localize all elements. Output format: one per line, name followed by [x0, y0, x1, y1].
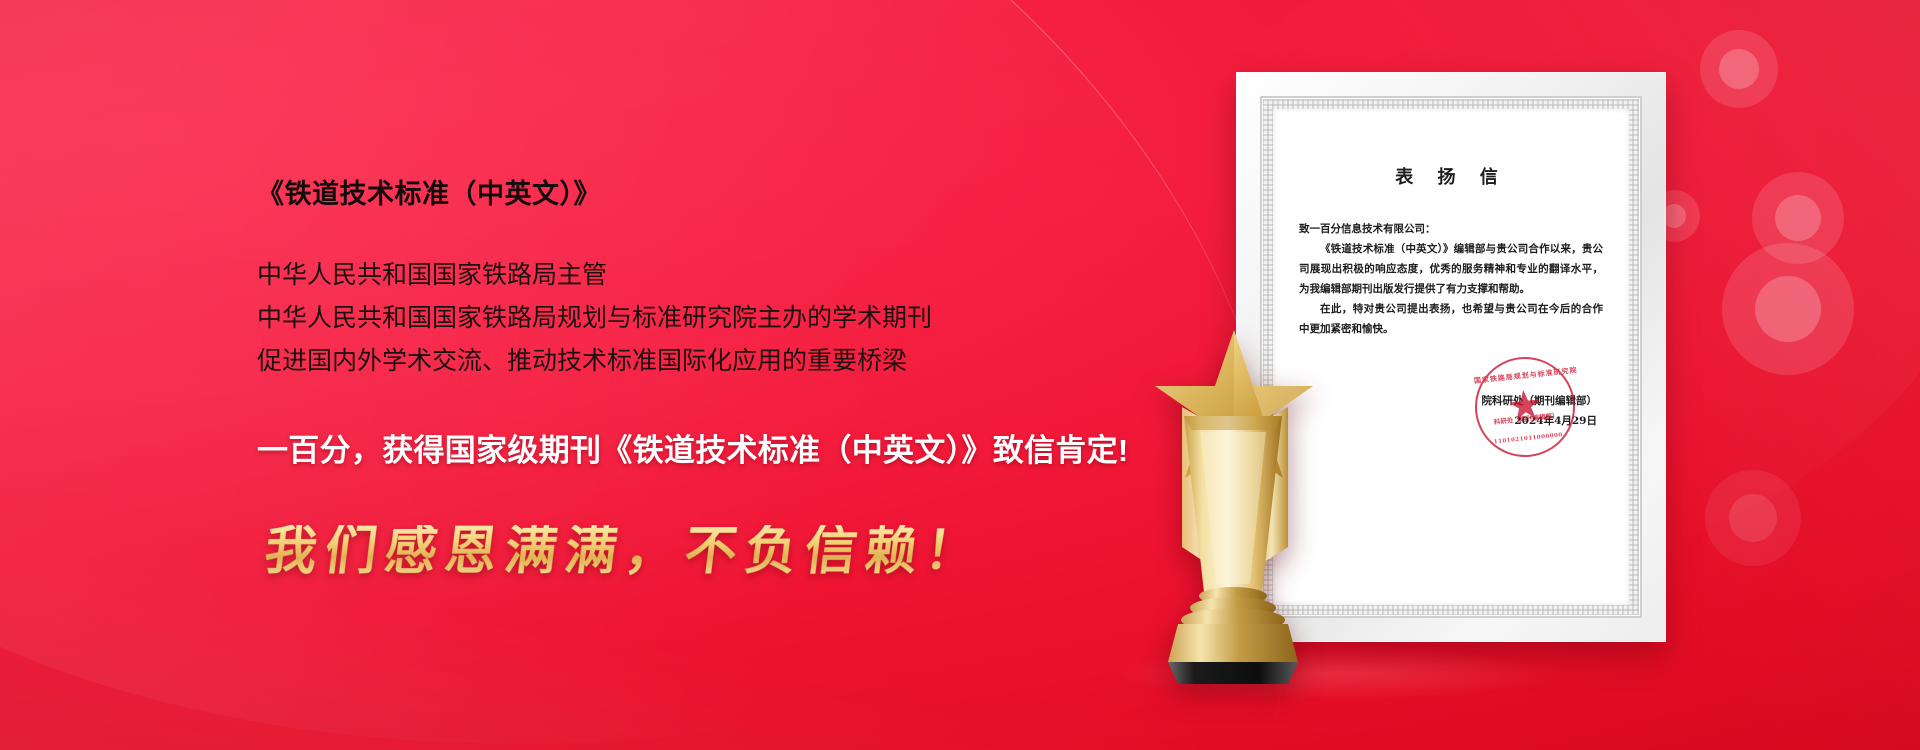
trophy-graphic: [1138, 312, 1328, 684]
journal-title: 《铁道技术标准（中英文）》: [257, 178, 1157, 210]
trophy-base: [1168, 662, 1298, 684]
trophy-svg: [1138, 312, 1328, 684]
certificate-paragraph-2: 在此，特对贵公司提出表扬，也希望与贵公司在今后的合作中更加紧密和愉快。: [1299, 299, 1603, 339]
subtitle-line-1: 中华人民共和国国家铁路局主管: [257, 254, 1157, 297]
headline: 一百分，获得国家级期刊《铁道技术标准（中英文）》致信肯定!: [257, 431, 1157, 471]
certificate-salutation: 致一百分信息技术有限公司：: [1299, 219, 1603, 239]
certificate-signoff: 国家铁路局规划与标准研究院 ★ 科研处（期刊编辑部） 1101021011000…: [1299, 391, 1603, 431]
copy-block: 《铁道技术标准（中英文）》 中华人民共和国国家铁路局主管 中华人民共和国国家铁路…: [257, 178, 1157, 577]
subtitle-line-3: 促进国内外学术交流、推动技术标准国际化应用的重要桥梁: [257, 340, 1157, 383]
certificate-paragraph-1: 《铁道技术标准（中英文）》编辑部与贵公司合作以来，贵公司展现出积极的响应态度，优…: [1299, 239, 1603, 299]
bokeh-circle: [1705, 470, 1801, 566]
banner-stage: 《铁道技术标准（中英文）》 中华人民共和国国家铁路局主管 中华人民共和国国家铁路…: [0, 0, 1920, 750]
calligraphy-slogan: 我们感恩满满，不负信赖！: [262, 525, 988, 577]
trophy-pedestal: [1168, 624, 1298, 662]
seal-ring-top-text: 国家铁路局规划与标准研究院: [1473, 361, 1571, 391]
bokeh-circle: [1700, 30, 1778, 108]
certificate-title: 表 扬 信: [1299, 163, 1603, 189]
floor-glow: [1020, 636, 1660, 710]
subtitle-line-2: 中华人民共和国国家铁路局规划与标准研究院主办的学术期刊: [257, 297, 1157, 340]
official-seal-icon: 国家铁路局规划与标准研究院 ★ 科研处（期刊编辑部） 1101021011000…: [1470, 352, 1580, 462]
bokeh-circle: [1722, 243, 1854, 375]
calligraphy-wrap: 我们感恩满满，不负信赖！: [257, 472, 1157, 577]
bokeh-circle: [1752, 172, 1844, 264]
